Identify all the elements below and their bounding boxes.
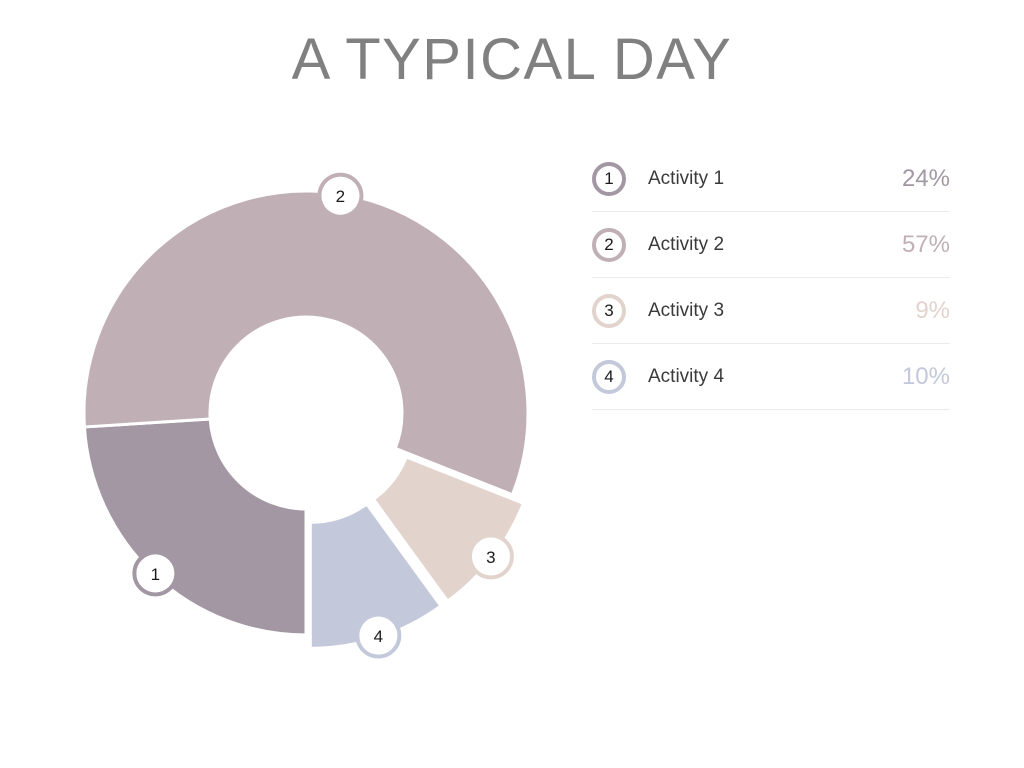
legend-marker-number: 3 [604, 302, 613, 319]
donut-chart-svg: 1234 [52, 160, 572, 680]
donut-callout[interactable]: 1 [134, 552, 176, 594]
legend-marker-icon-1: 1 [592, 162, 626, 196]
legend-marker-number: 1 [604, 170, 613, 187]
legend-marker-number: 4 [604, 368, 613, 385]
legend-row[interactable]: 3 Activity 3 9% [592, 278, 950, 344]
legend-label-activity-2: Activity 2 [648, 234, 902, 256]
page-title: A TYPICAL DAY [0, 28, 1024, 92]
legend-row[interactable]: 4 Activity 4 10% [592, 344, 950, 410]
legend-marker-icon-3: 3 [592, 294, 626, 328]
legend-row[interactable]: 2 Activity 2 57% [592, 212, 950, 278]
donut-chart: 1234 [52, 160, 572, 680]
donut-callout[interactable]: 4 [357, 615, 399, 657]
legend-marker-number: 2 [604, 236, 613, 253]
legend: 1 Activity 1 24% 2 Activity 2 57% 3 Acti… [592, 146, 950, 410]
legend-percent-activity-2: 57% [902, 231, 950, 259]
legend-label-activity-1: Activity 1 [648, 168, 902, 190]
legend-label-activity-3: Activity 3 [648, 300, 915, 322]
donut-callout-number: 3 [486, 548, 495, 567]
legend-percent-activity-3: 9% [915, 297, 950, 325]
donut-callout[interactable]: 2 [319, 175, 361, 217]
donut-slice[interactable] [84, 419, 306, 635]
legend-percent-activity-4: 10% [902, 363, 950, 391]
donut-callout-number: 2 [336, 187, 345, 206]
legend-percent-activity-1: 24% [902, 165, 950, 193]
donut-callout-number: 4 [374, 627, 383, 646]
donut-callout[interactable]: 3 [470, 535, 512, 577]
legend-marker-icon-2: 2 [592, 228, 626, 262]
legend-row[interactable]: 1 Activity 1 24% [592, 146, 950, 212]
donut-callout-number: 1 [151, 565, 160, 584]
legend-marker-icon-4: 4 [592, 360, 626, 394]
legend-label-activity-4: Activity 4 [648, 366, 902, 388]
